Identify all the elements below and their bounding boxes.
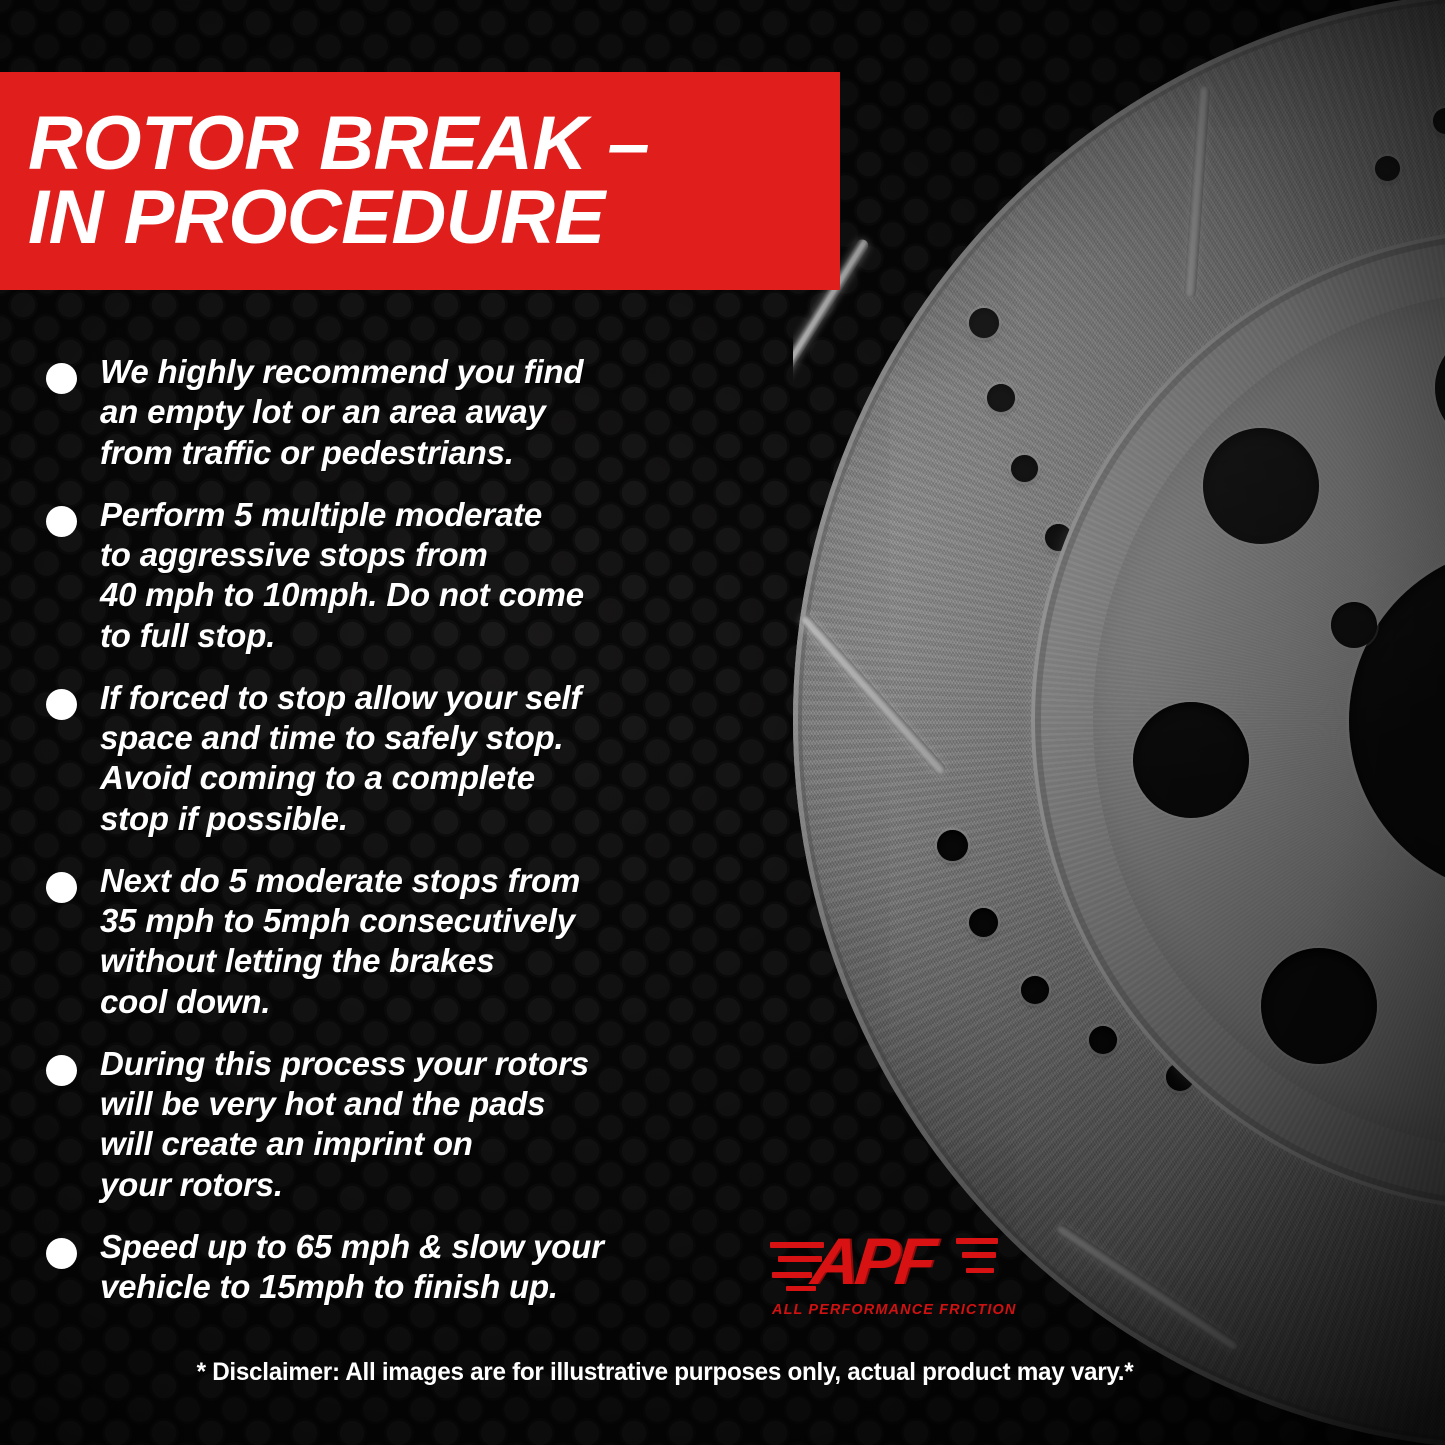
list-item-text: We highly recommend you find an empty lo…: [100, 352, 583, 473]
list-item: Next do 5 moderate stops from 35 mph to …: [46, 861, 766, 1022]
list-item-text: Speed up to 65 mph & slow your vehicle t…: [100, 1227, 604, 1308]
bullet-dot-icon: [46, 363, 77, 394]
bullet-dot-icon: [46, 1055, 77, 1086]
bullet-dot-icon: [46, 506, 77, 537]
procedure-step-list: We highly recommend you find an empty lo…: [46, 352, 766, 1329]
logo-speed-streak-icon: [956, 1238, 998, 1244]
poster-canvas: ROTOR BREAK – IN PROCEDURE We highly rec…: [0, 0, 1445, 1445]
list-item: Speed up to 65 mph & slow your vehicle t…: [46, 1227, 766, 1308]
apf-logo: APF ALL PERFORMANCE FRICTION: [770, 1228, 1000, 1328]
logo-speed-streak-icon: [772, 1272, 812, 1278]
list-item-text: If forced to stop allow your self space …: [100, 678, 581, 839]
list-item-text: Perform 5 multiple moderate to aggressiv…: [100, 495, 584, 656]
title-line-1: ROTOR BREAK –: [28, 107, 840, 181]
logo-tagline: ALL PERFORMANCE FRICTION: [772, 1302, 998, 1318]
bullet-dot-icon: [46, 689, 77, 720]
list-item: If forced to stop allow your self space …: [46, 678, 766, 839]
disclaimer-text: * Disclaimer: All images are for illustr…: [20, 1358, 1310, 1387]
list-item-text: Next do 5 moderate stops from 35 mph to …: [100, 861, 580, 1022]
bullet-dot-icon: [46, 1238, 77, 1269]
list-item: We highly recommend you find an empty lo…: [46, 352, 766, 473]
logo-speed-streak-icon: [962, 1252, 996, 1258]
logo-wordmark: APF: [809, 1228, 936, 1294]
bullet-dot-icon: [46, 872, 77, 903]
list-item: Perform 5 multiple moderate to aggressiv…: [46, 495, 766, 656]
list-item: During this process your rotors will be …: [46, 1044, 766, 1205]
title-line-2: IN PROCEDURE: [28, 181, 840, 255]
title-banner: ROTOR BREAK – IN PROCEDURE: [0, 72, 840, 290]
list-item-text: During this process your rotors will be …: [100, 1044, 589, 1205]
logo-speed-streak-icon: [966, 1268, 994, 1273]
